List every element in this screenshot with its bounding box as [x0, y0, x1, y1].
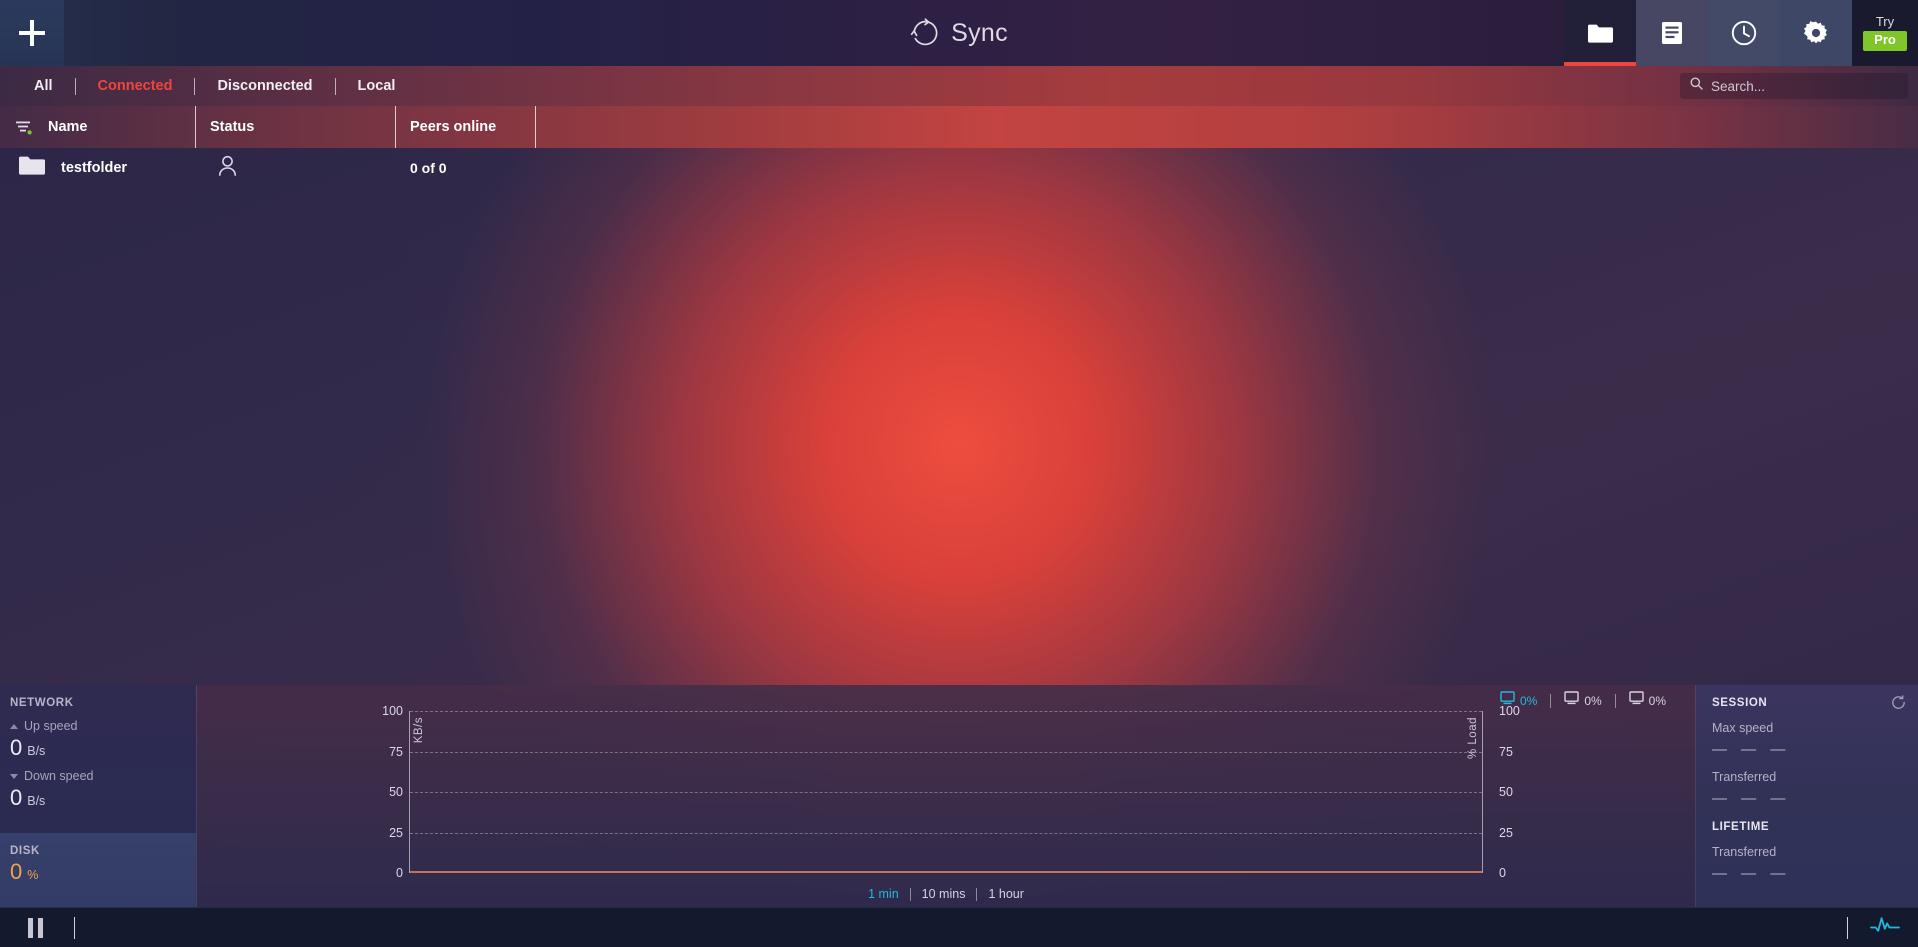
row-folder-name: testfolder [61, 160, 127, 176]
person-icon [218, 155, 237, 181]
chart-timerange-selector: 1 min 10 mins 1 hour [197, 887, 1695, 901]
chart-gridlines [410, 711, 1482, 873]
disk-label: DISK [10, 845, 196, 857]
gridline [410, 792, 1482, 793]
y-tick-right-75: 75 [1489, 745, 1529, 759]
timerange-10mins[interactable]: 10 mins [911, 887, 977, 901]
stats-panel: NETWORK Up speed 0B/s Down speed 0B/s DI… [0, 685, 1918, 907]
lifetime-transferred-label: Transferred [1712, 845, 1918, 859]
nav-settings-button[interactable] [1780, 0, 1852, 66]
plus-icon [19, 20, 45, 46]
column-header-name[interactable]: Name [0, 106, 196, 148]
table-row[interactable]: testfolder 0 of 0 [0, 148, 1918, 188]
monitor-icon [1564, 691, 1579, 710]
y-tick-right-0: 0 [1489, 866, 1529, 880]
load-indicator-2-value: 0% [1649, 694, 1666, 708]
divider [1847, 917, 1848, 939]
filter-tab-connected[interactable]: Connected [76, 79, 195, 94]
nav-devices-button[interactable] [1636, 0, 1708, 66]
session-max-speed-label: Max speed [1712, 721, 1918, 735]
lifetime-label: LIFETIME [1712, 821, 1918, 833]
filter-tab-all[interactable]: All [12, 79, 75, 94]
row-name-cell: testfolder [0, 155, 196, 181]
app-title: Sync [951, 19, 1008, 48]
disk-value: 0 [10, 859, 22, 884]
filter-tabs: All Connected Disconnected Local [0, 66, 417, 106]
filter-tab-local[interactable]: Local [336, 79, 418, 94]
y-tick-right-50: 50 [1489, 785, 1529, 799]
top-bar: Sync [0, 0, 1918, 66]
pause-button[interactable] [22, 916, 48, 940]
reset-arrow-icon[interactable] [1891, 695, 1906, 715]
y-tick-right-25: 25 [1489, 826, 1529, 840]
up-speed-label-row: Up speed [10, 719, 196, 733]
pro-badge: Pro [1863, 31, 1907, 51]
session-label: SESSION [1712, 697, 1918, 709]
y-tick-left-0: 0 [363, 866, 403, 880]
y-tick-right-100: 100 [1489, 704, 1529, 718]
add-folder-button[interactable] [0, 0, 64, 66]
column-header-peers-online[interactable]: Peers online [396, 106, 536, 148]
chart-y-ticks-right: 100 75 50 25 0 [1489, 711, 1529, 873]
top-nav: Try Pro [1564, 0, 1918, 66]
column-header-spacer [536, 106, 1918, 148]
nav-folders-button[interactable] [1564, 0, 1636, 66]
document-list-icon [1661, 21, 1683, 45]
sync-circular-arrows-icon [910, 18, 940, 48]
load-indicator-2[interactable]: 0% [1616, 691, 1679, 710]
down-speed-unit: B/s [27, 794, 45, 808]
down-speed-value: 0 [10, 785, 22, 810]
down-speed-label-row: Down speed [10, 769, 196, 783]
filter-tab-disconnected[interactable]: Disconnected [195, 79, 334, 94]
up-speed-value-row: 0B/s [10, 737, 196, 759]
y-tick-left-100: 100 [363, 704, 403, 718]
disk-panel: DISK 0% [0, 833, 196, 907]
activity-graph-toggle-button[interactable] [1870, 916, 1900, 939]
session-panel: SESSION Max speed — — — Transferred — — … [1696, 685, 1918, 907]
network-label: NETWORK [10, 697, 196, 709]
gridline [410, 833, 1482, 834]
divider [74, 917, 75, 939]
try-label: Try [1876, 15, 1894, 28]
gear-icon [1803, 20, 1829, 46]
search-input[interactable]: Search... [1680, 73, 1908, 99]
folder-icon [1587, 23, 1613, 44]
down-speed-value-row: 0B/s [10, 787, 196, 809]
y-tick-left-75: 75 [363, 745, 403, 759]
row-peers-value: 0 of 0 [410, 160, 447, 176]
lifetime-transferred-value: — — — [1712, 865, 1918, 882]
disk-unit: % [27, 868, 38, 882]
row-status-cell [196, 155, 396, 181]
search-placeholder: Search... [1711, 79, 1765, 94]
y-tick-left-25: 25 [363, 826, 403, 840]
network-section: NETWORK Up speed 0B/s Down speed 0B/s [0, 685, 196, 809]
filter-bar: All Connected Disconnected Local [0, 66, 1918, 106]
arrow-up-icon [10, 724, 18, 729]
column-header-name-label: Name [48, 119, 88, 135]
load-indicator-1[interactable]: 0% [1551, 691, 1614, 710]
nav-history-button[interactable] [1708, 0, 1780, 66]
y-tick-left-50: 50 [363, 785, 403, 799]
disk-value-row: 0% [10, 861, 196, 883]
try-pro-button[interactable]: Try Pro [1852, 0, 1918, 66]
row-peers-cell: 0 of 0 [396, 160, 536, 176]
timerange-1hour[interactable]: 1 hour [977, 887, 1034, 901]
bandwidth-chart-panel: 0% 0% [196, 685, 1696, 907]
arrow-down-icon [10, 774, 18, 779]
filter-funnel-icon[interactable] [0, 120, 34, 135]
session-transferred-label: Transferred [1712, 770, 1918, 784]
session-max-speed-value: — — — [1712, 741, 1918, 758]
table-header: Name Status Peers online [0, 106, 1918, 148]
pause-icon [28, 918, 33, 938]
monitor-icon [1629, 691, 1644, 710]
session-transferred-value: — — — [1712, 790, 1918, 807]
search-icon [1690, 77, 1703, 95]
chart-series-line [410, 871, 1482, 873]
sync-app-window: Sync [0, 0, 1918, 947]
folder-icon [18, 155, 45, 181]
chart-plot-area: 100 75 50 25 0 100 75 50 25 0 KB/s % Loa… [197, 711, 1695, 873]
chart-y-ticks-left: 100 75 50 25 0 [363, 711, 403, 873]
bottom-status-bar [0, 907, 1918, 947]
down-speed-label: Down speed [24, 769, 94, 783]
pause-icon [38, 918, 43, 938]
up-speed-label: Up speed [24, 719, 78, 733]
timerange-1min[interactable]: 1 min [857, 887, 910, 901]
up-speed-unit: B/s [27, 744, 45, 758]
chart-y-axis-right [1482, 711, 1483, 873]
gridline [410, 752, 1482, 753]
clock-icon [1731, 20, 1757, 46]
network-panel: NETWORK Up speed 0B/s Down speed 0B/s DI… [0, 685, 196, 907]
load-indicator-1-value: 0% [1584, 694, 1601, 708]
column-header-status[interactable]: Status [196, 106, 396, 148]
activity-waveform-icon [1870, 916, 1900, 939]
up-speed-value: 0 [10, 735, 22, 760]
gridline [410, 711, 1482, 712]
